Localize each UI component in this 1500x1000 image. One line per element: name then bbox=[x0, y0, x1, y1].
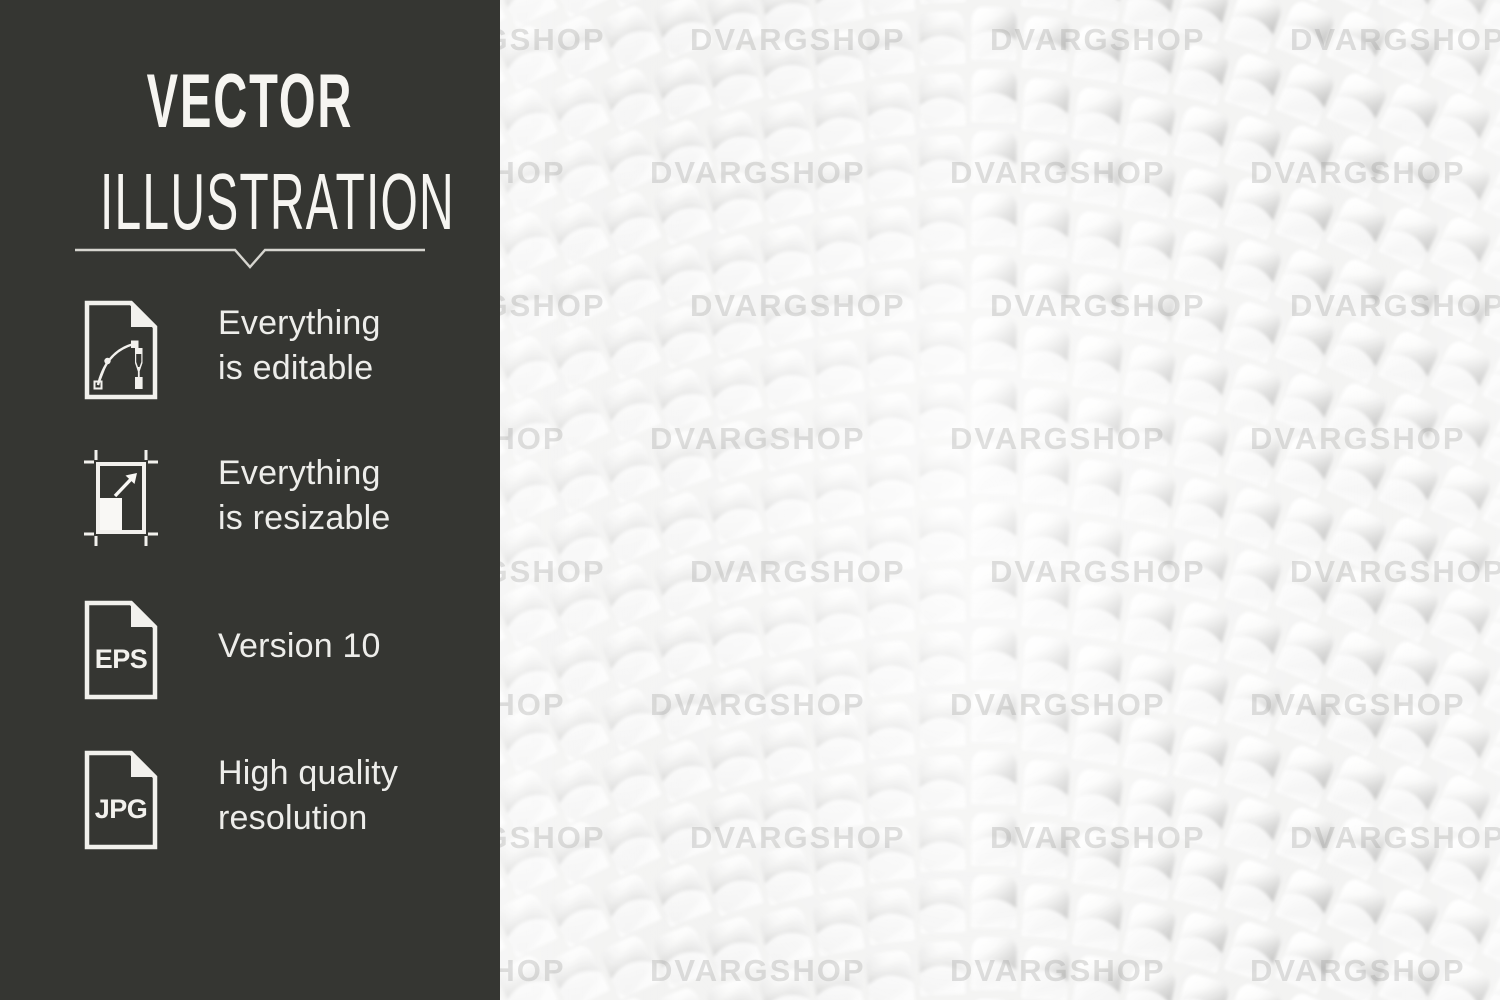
document-pen-tool-icon bbox=[84, 300, 158, 400]
feature-label: Everything is resizable bbox=[218, 451, 390, 541]
texture-panel: DVARGSHOPDVARGSHOPDVARGSHOPDVARGSHOPDVAR… bbox=[500, 0, 1500, 1000]
info-panel: VECTOR ILLUSTRATION bbox=[0, 0, 500, 1000]
title-divider bbox=[75, 245, 425, 279]
feature-item-quality: JPG High quality resolution bbox=[0, 750, 500, 900]
page-title: VECTOR bbox=[95, 64, 405, 140]
chevron-wave-texture bbox=[500, 0, 1500, 1000]
resize-crop-arrow-icon bbox=[84, 450, 158, 550]
divider-notch-icon bbox=[75, 245, 425, 279]
feature-item-editable: Everything is editable bbox=[0, 300, 500, 450]
eps-file-icon: EPS bbox=[84, 600, 158, 700]
promo-stage: DVARGSHOPDVARGSHOPDVARGSHOPDVARGSHOPDVAR… bbox=[0, 0, 1500, 1000]
feature-item-version: EPS Version 10 bbox=[0, 600, 500, 750]
jpg-file-icon-label: JPG bbox=[95, 794, 148, 824]
page-subtitle: ILLUSTRATION bbox=[100, 162, 400, 242]
feature-label: High quality resolution bbox=[218, 751, 398, 841]
feature-label: Everything is editable bbox=[218, 301, 381, 391]
jpg-file-icon: JPG bbox=[84, 750, 158, 850]
feature-item-resizable: Everything is resizable bbox=[0, 450, 500, 600]
eps-file-icon-label: EPS bbox=[95, 644, 148, 674]
feature-list: Everything is editable bbox=[0, 300, 500, 900]
feature-label: Version 10 bbox=[218, 624, 381, 669]
